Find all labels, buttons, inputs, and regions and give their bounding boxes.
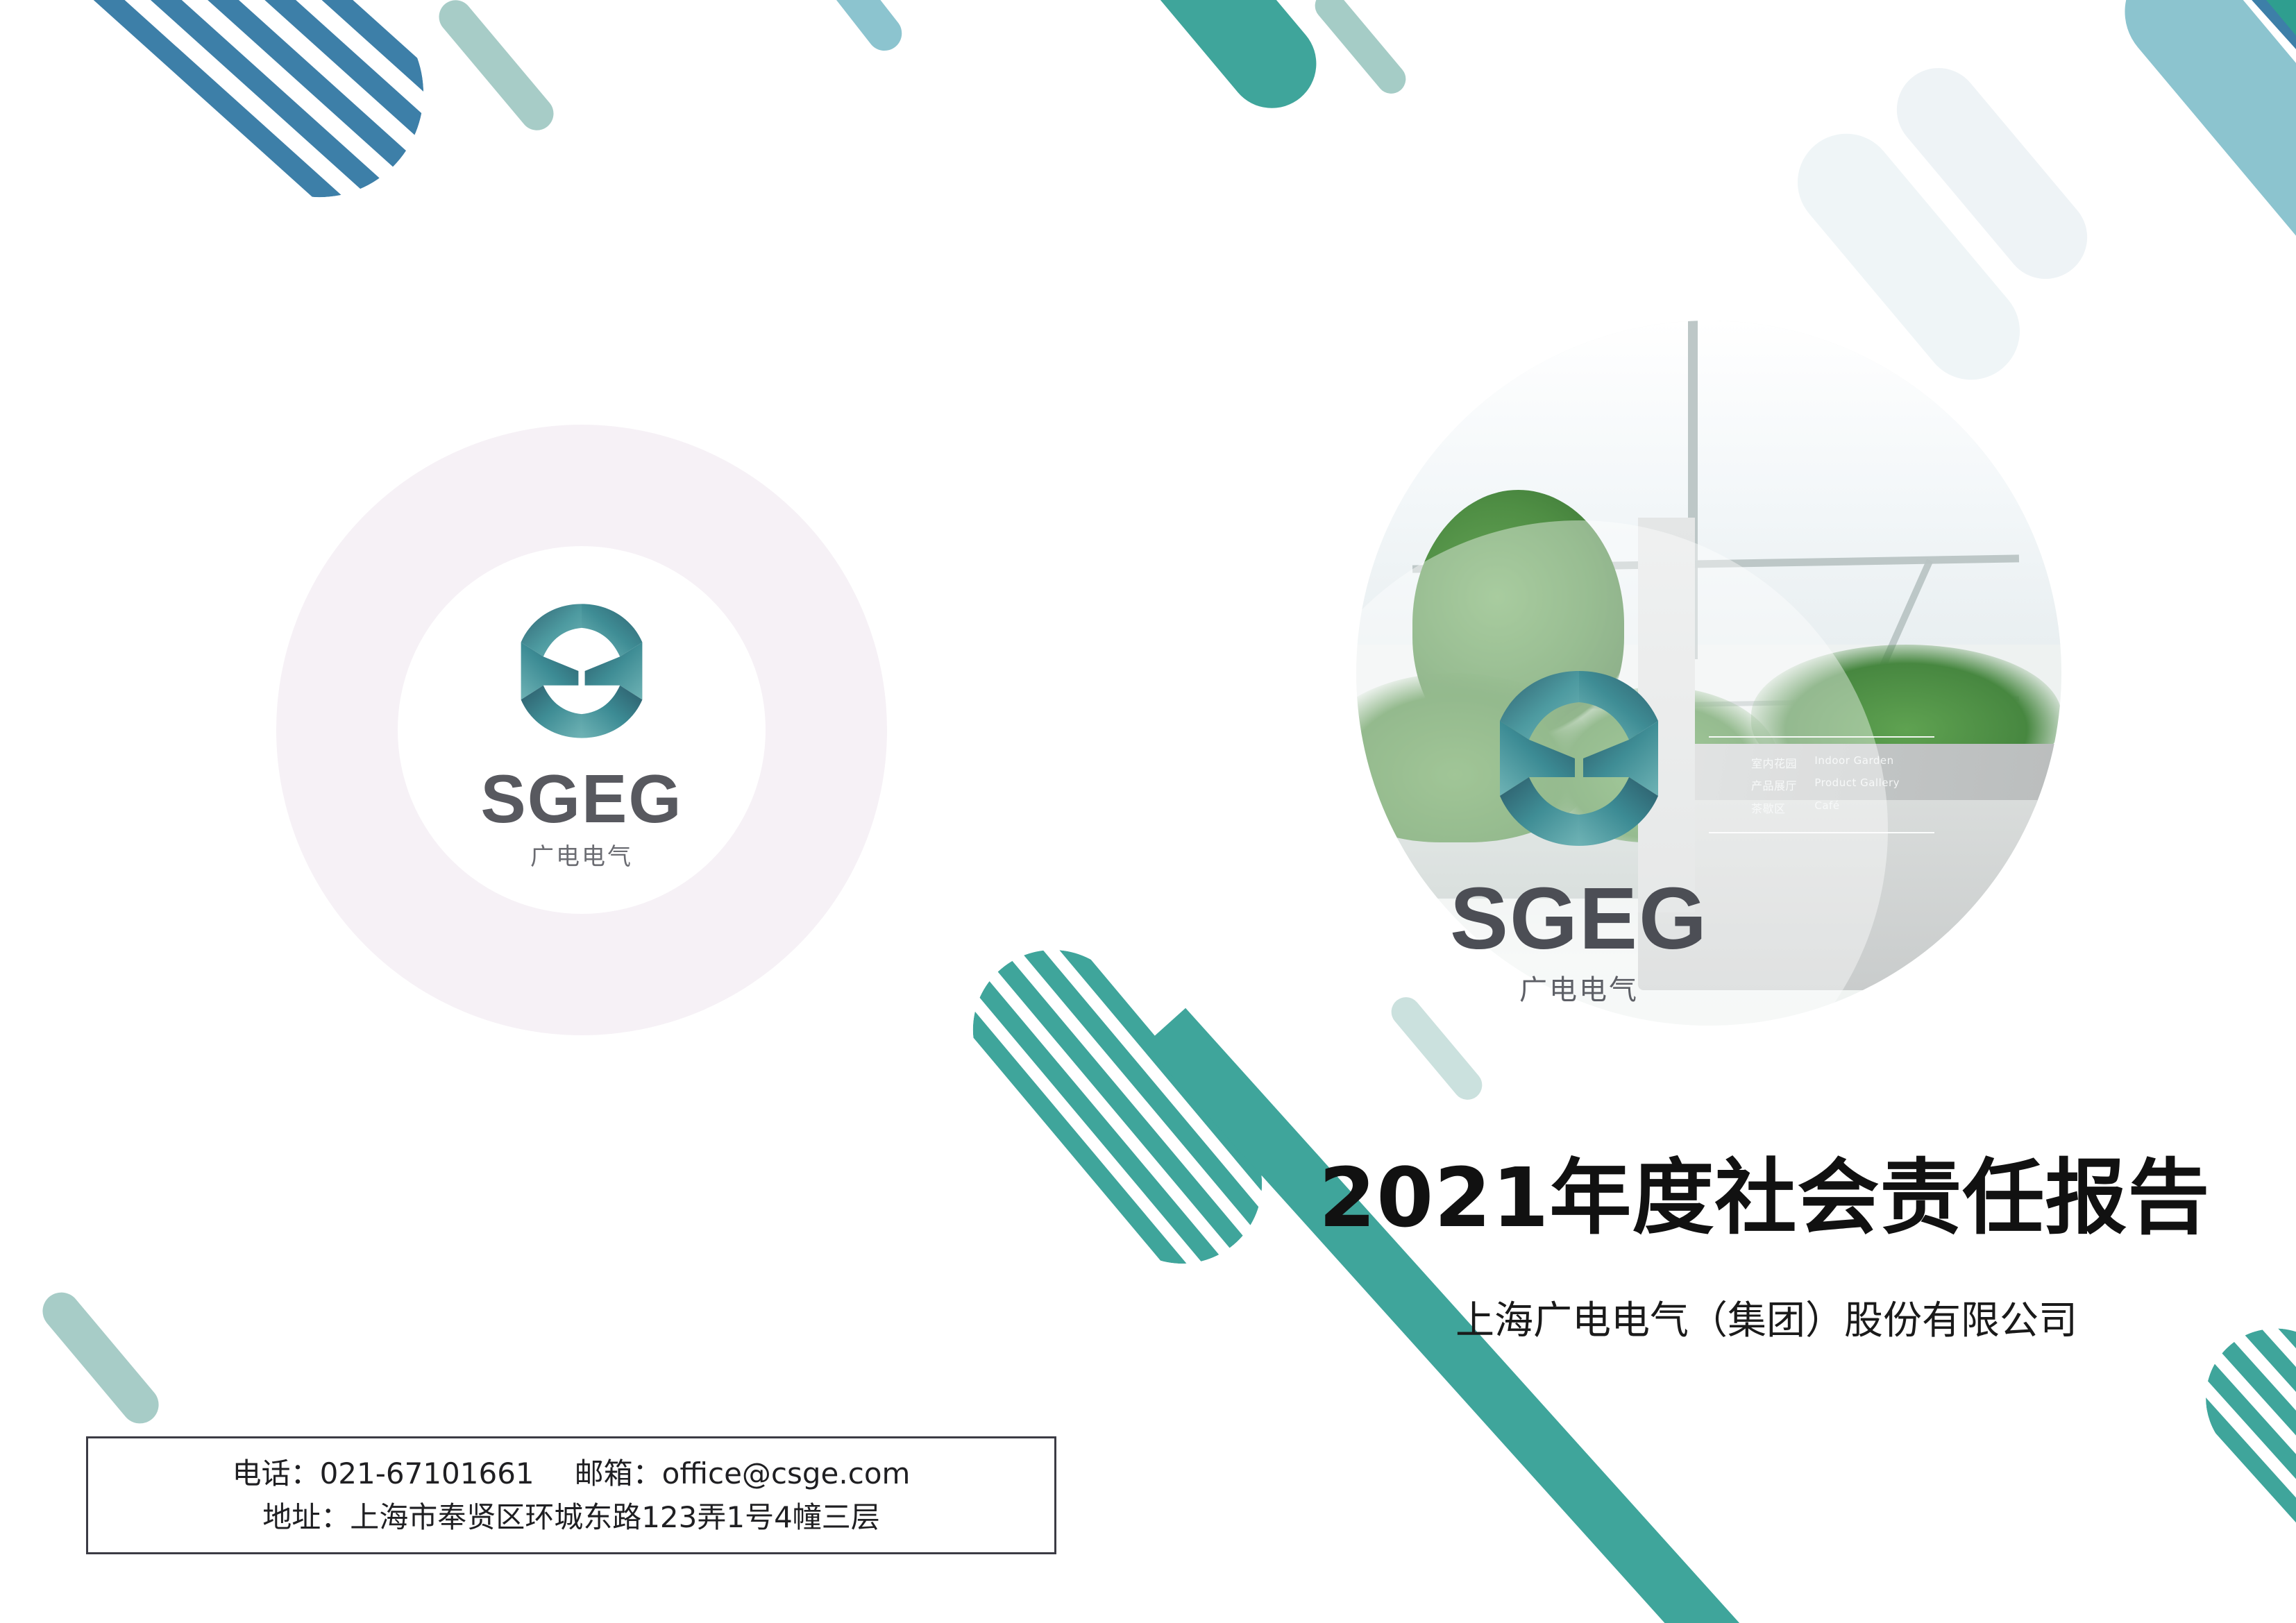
photo-logo-wordmark-cn: 广电电气 <box>1519 976 1639 1004</box>
pill-blue-light-right <box>2102 0 2296 303</box>
photo-logo-overlay: SGEG 广电电气 <box>1270 520 1888 1138</box>
pill-pale-green-bottom-left <box>35 1285 166 1431</box>
page-title: 2021年度社会责任报告 <box>1319 1152 2214 1243</box>
email-value: office@csge.com <box>662 1456 911 1490</box>
pill-teal-large-top <box>1025 0 1334 126</box>
company-name: 上海广电电气（集团）股份有限公司 <box>1319 1298 2214 1344</box>
logo-badge-ring: SGEG 广电电气 <box>276 425 887 1035</box>
address-value: 上海市奉贤区环城东路123弄1号4幢三层 <box>350 1500 880 1534</box>
photo-logo-wordmark: SGEG <box>1450 875 1708 962</box>
logo-wordmark-cn: 广电电气 <box>530 845 633 869</box>
contact-line-address: 地址：上海市奉贤区环城东路123弄1号4幢三层 <box>262 1495 880 1539</box>
logo-badge-inner: SGEG 广电电气 <box>398 546 766 914</box>
sgeg-ribbon-logo-icon <box>502 591 661 751</box>
stripe-pill-bottom-right-icon <box>2177 1300 2296 1614</box>
contact-info-box: 电话：021-67101661邮箱：office@csge.com 地址：上海市… <box>86 1436 1056 1554</box>
phone-label: 电话： <box>233 1456 320 1490</box>
pill-pale-green-top <box>432 0 561 137</box>
address-label: 地址： <box>262 1500 350 1534</box>
title-block: 2021年度社会责任报告 上海广电电气（集团）股份有限公司 <box>1319 1152 2214 1344</box>
sgeg-ribbon-logo-overlay-icon <box>1475 654 1683 863</box>
pill-blue-light-top <box>792 0 909 58</box>
phone-value: 021-67101661 <box>320 1456 534 1490</box>
pill-pale-green-small-top <box>1309 0 1412 99</box>
contact-line-phone-email: 电话：021-67101661邮箱：office@csge.com <box>233 1452 911 1495</box>
report-cover-page: SGEG 广电电气 室内花园 I <box>0 0 2296 1623</box>
email-label: 邮箱： <box>575 1456 662 1490</box>
logo-wordmark: SGEG <box>480 765 682 833</box>
stripe-pill-top-left-icon <box>0 0 466 240</box>
